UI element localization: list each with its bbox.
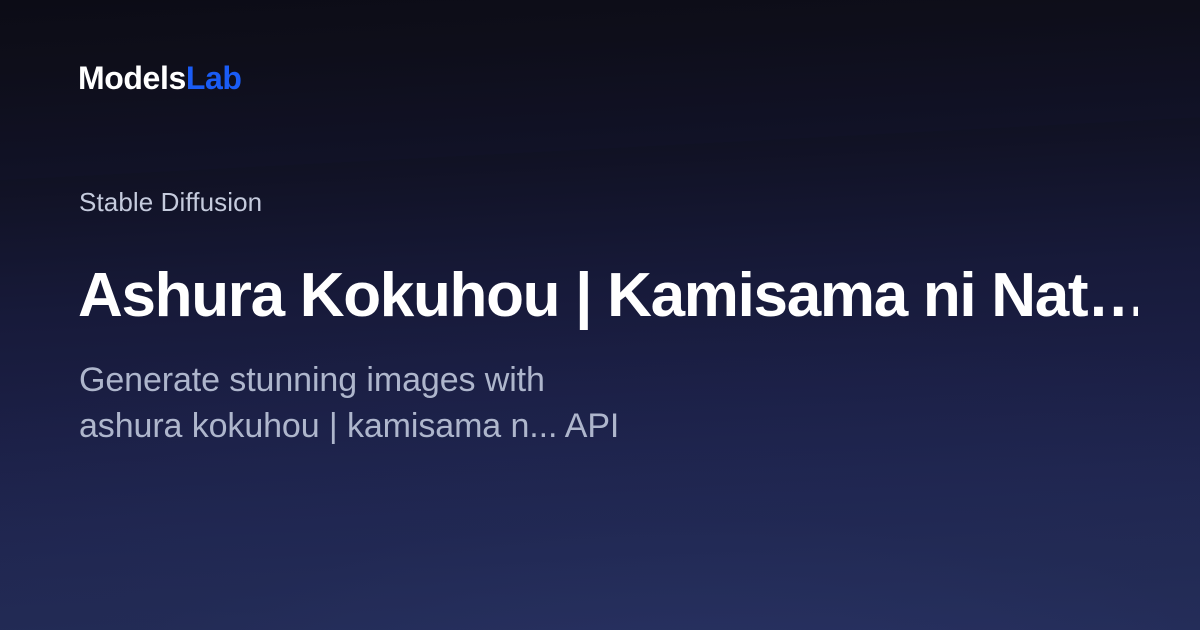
page-description: Generate stunning images with ashura kok… (79, 357, 799, 449)
page-title: Ashura Kokuhou | Kamisama ni Nat… (78, 262, 1138, 330)
brand-logo-models-text: Models (78, 60, 186, 96)
page-description-line-1: Generate stunning images with (79, 357, 799, 403)
brand-logo[interactable]: ModelsLab (78, 62, 242, 94)
brand-logo-lab-text: Lab (186, 60, 242, 96)
og-card-canvas: ModelsLab Stable Diffusion Ashura Kokuho… (0, 0, 1200, 630)
model-category-label: Stable Diffusion (79, 188, 262, 218)
page-description-line-2: ashura kokuhou | kamisama n... API (79, 403, 799, 449)
